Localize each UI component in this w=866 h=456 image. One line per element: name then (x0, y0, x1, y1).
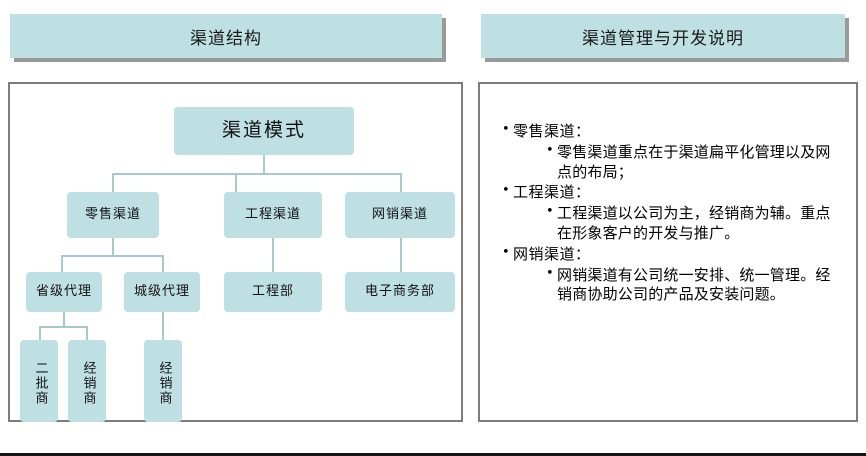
connector-city-to-dealer (162, 312, 164, 340)
connector-retail-bus (61, 255, 164, 257)
connector-root-bus (112, 173, 402, 175)
org-node-retail-channel-label: 零售渠道 (85, 208, 141, 223)
channel-structure-panel: 渠道模式 零售渠道 工程渠道 网销渠道 省级代理 城级代理 (8, 82, 463, 422)
org-node-online-channel[interactable]: 网销渠道 (345, 192, 455, 238)
org-node-ecommerce-department-label: 电子商务部 (365, 285, 435, 300)
channel-structure-header-title: 渠道结构 (190, 24, 262, 49)
org-node-retail-channel[interactable]: 零售渠道 (67, 192, 159, 238)
connector-retail-stem (112, 238, 114, 255)
connector-root-to-retail (112, 173, 114, 192)
note-item-project-heading: 工程渠道： (502, 183, 842, 203)
connector-root-to-project (235, 173, 237, 192)
org-chart: 渠道模式 零售渠道 工程渠道 网销渠道 省级代理 城级代理 (10, 84, 461, 420)
org-node-secondary-wholesaler[interactable]: 二批商 (20, 340, 58, 422)
connector-retail-to-provincial (61, 255, 63, 272)
org-node-root[interactable]: 渠道模式 (174, 107, 354, 155)
connector-provincial-bus (39, 326, 87, 328)
connector-root-to-online (400, 173, 402, 192)
org-node-dealer-provincial[interactable]: 经销商 (68, 340, 106, 422)
org-node-provincial-agent-label: 省级代理 (36, 285, 92, 300)
channel-structure-header: 渠道结构 (10, 14, 442, 58)
connector-root-stem (263, 155, 265, 173)
org-node-project-channel[interactable]: 工程渠道 (224, 192, 322, 238)
note-item-online-detail: 网销渠道有公司统一安排、统一管理。经销商协助公司的产品及安装问题。 (546, 266, 842, 306)
org-node-dealer-city-label: 经销商 (156, 361, 171, 406)
org-node-city-agent-label: 城级代理 (134, 285, 190, 300)
org-node-project-department[interactable]: 工程部 (224, 272, 322, 312)
org-node-provincial-agent[interactable]: 省级代理 (26, 272, 102, 312)
note-item-project-detail: 工程渠道以公司为主，经销商为辅。重点在形象客户的开发与推广。 (546, 204, 842, 244)
connector-project-to-dept (272, 238, 274, 272)
org-node-secondary-wholesaler-label: 二批商 (32, 361, 47, 406)
org-node-project-department-label: 工程部 (252, 285, 294, 300)
channel-notes-list: 零售渠道： 零售渠道重点在于渠道扁平化管理以及网点的布局； 工程渠道： 工程渠道… (502, 122, 842, 306)
connector-online-to-ecom (400, 238, 402, 272)
org-node-project-channel-label: 工程渠道 (245, 208, 301, 223)
org-node-ecommerce-department[interactable]: 电子商务部 (345, 272, 455, 312)
channel-management-header: 渠道管理与开发说明 (481, 14, 845, 58)
channel-management-header-title: 渠道管理与开发说明 (582, 24, 744, 49)
connector-provincial-stem (63, 312, 65, 326)
connector-retail-to-city (162, 255, 164, 272)
org-node-dealer-city[interactable]: 经销商 (144, 340, 182, 422)
note-item-retail-heading: 零售渠道： (502, 122, 842, 142)
connector-provincial-to-secondary (39, 326, 41, 340)
note-item-retail-detail: 零售渠道重点在于渠道扁平化管理以及网点的布局； (546, 143, 842, 183)
org-node-city-agent[interactable]: 城级代理 (124, 272, 200, 312)
connector-provincial-to-dealer (86, 326, 88, 340)
channel-management-panel: 零售渠道： 零售渠道重点在于渠道扁平化管理以及网点的布局； 工程渠道： 工程渠道… (478, 82, 858, 422)
org-node-online-channel-label: 网销渠道 (372, 208, 428, 223)
note-item-online-heading: 网销渠道： (502, 245, 842, 265)
org-node-root-label: 渠道模式 (222, 120, 306, 142)
org-node-dealer-provincial-label: 经销商 (80, 361, 95, 406)
